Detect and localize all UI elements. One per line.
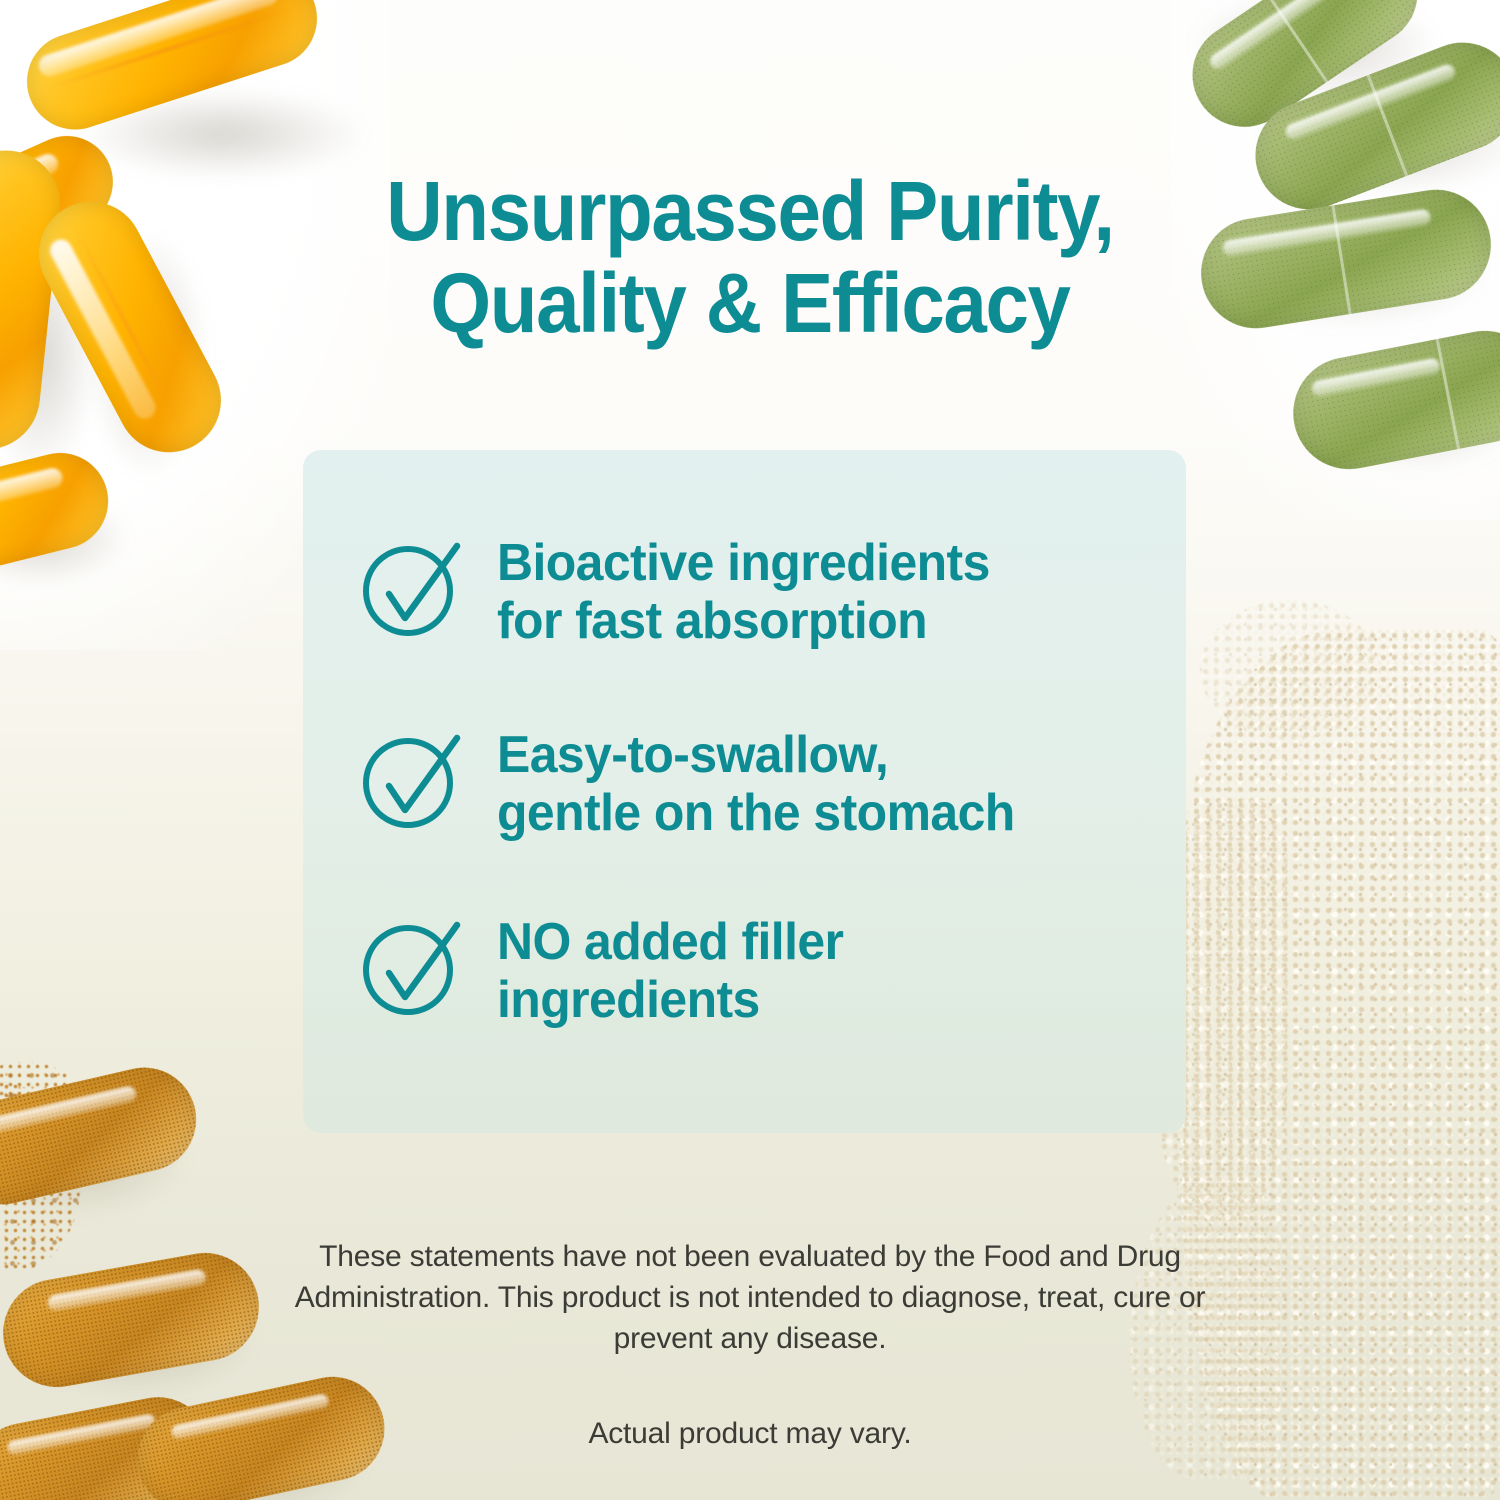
benefit-item: NO added filler ingredients [360,915,858,1029]
benefit-item: Bioactive ingredients for fast absorptio… [360,536,1010,650]
benefit-label: NO added filler ingredients [497,913,843,1029]
product-benefits-infographic: Unsurpassed Purity, Quality & Efficacy B… [0,0,1500,1500]
benefit-item: Easy-to-swallow, gentle on the stomach [360,728,1036,842]
product-variation-note: Actual product may vary. [250,1413,1250,1454]
check-circle-icon [360,536,470,640]
benefits-card: Bioactive ingredients for fast absorptio… [303,450,1186,1133]
disclaimer: These statements have not been evaluated… [250,1236,1250,1454]
check-circle-icon [360,915,470,1019]
headline-line-1: Unsurpassed Purity, [53,165,1448,257]
page-title: Unsurpassed Purity, Quality & Efficacy [0,165,1500,349]
benefit-label: Bioactive ingredients for fast absorptio… [497,534,990,650]
fda-disclaimer-text: These statements have not been evaluated… [250,1236,1250,1359]
check-circle-icon [360,728,470,832]
benefit-label: Easy-to-swallow, gentle on the stomach [497,726,1015,842]
headline-line-2: Quality & Efficacy [53,257,1448,349]
